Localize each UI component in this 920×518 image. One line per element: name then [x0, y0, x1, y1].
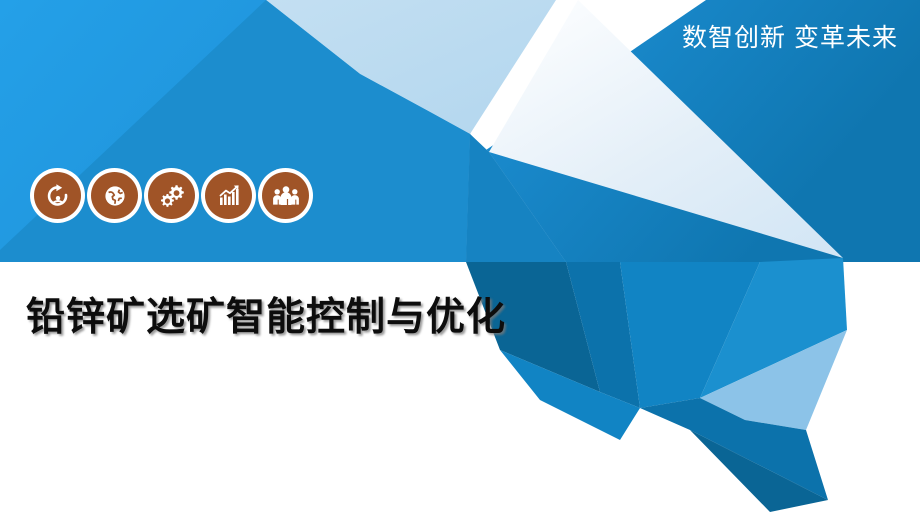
bar-chart-icon[interactable] [205, 172, 252, 219]
people-group-icon[interactable] [262, 172, 309, 219]
globe-icon[interactable] [91, 172, 138, 219]
refresh-arrow-icon[interactable] [34, 172, 81, 219]
icon-badge-row [34, 172, 309, 219]
slide-canvas: 数智创新 变革未来 [0, 0, 920, 518]
background-polygon-art [0, 0, 920, 518]
slide-tagline: 数智创新 变革未来 [682, 26, 898, 51]
page-title: 铅锌矿选矿智能控制与优化 [26, 296, 506, 341]
gears-icon[interactable] [148, 172, 195, 219]
